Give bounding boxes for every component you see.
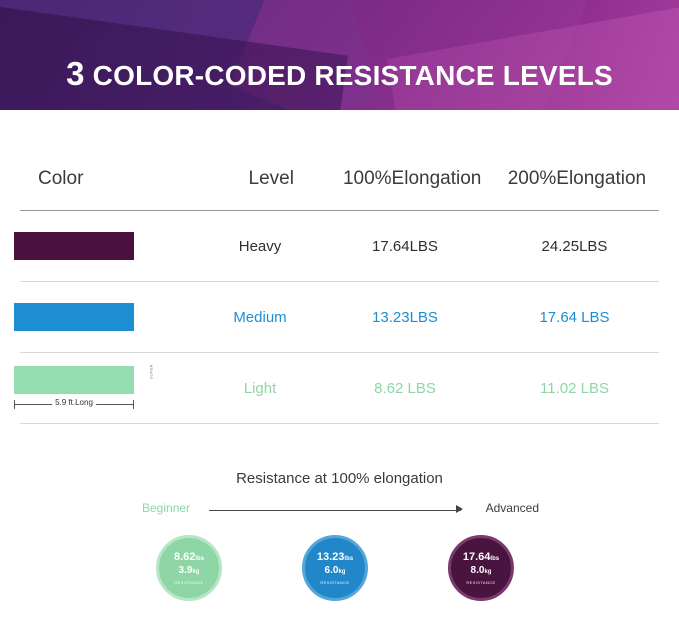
color-swatch-heavy <box>14 232 134 260</box>
badge-light-caption: RESISTANCE <box>174 580 203 585</box>
column-header-color: Color <box>20 168 213 190</box>
arrow-head-icon <box>456 505 463 513</box>
progression-arrow: Beginner Advanced <box>0 501 679 521</box>
badge-heavy-sub: 8.0kg <box>471 565 492 578</box>
value-light-200: 11.02 LBS <box>490 380 659 397</box>
badge-light-sub: 3.9kg <box>179 565 200 578</box>
color-swatch-light: SUPER <box>14 366 134 394</box>
resistance-badges: 8.62lbs 3.9kg RESISTANCE 13.23lbs 6.0kg … <box>0 535 679 615</box>
badge-medium-sub: 6.0kg <box>325 565 346 578</box>
column-header-level: Level <box>213 168 330 190</box>
value-medium-100: 13.23LBS <box>320 309 490 326</box>
label-advanced: Advanced <box>486 501 539 515</box>
table-row: Medium 13.23LBS 17.64 LBS <box>20 282 659 353</box>
label-beginner: Beginner <box>142 501 190 515</box>
page-title-text: COLOR-CODED RESISTANCE LEVELS <box>85 60 613 91</box>
column-header-100-elongation: 100%Elongation <box>330 168 495 190</box>
badge-heavy-caption: RESISTANCE <box>466 580 495 585</box>
arrow-line <box>209 510 461 511</box>
badge-heavy-value: 17.64lbs <box>463 551 499 565</box>
badge-medium-value: 13.23lbs <box>317 551 353 565</box>
value-heavy-200: 24.25LBS <box>490 238 659 255</box>
length-cap-right <box>133 400 134 409</box>
badge-heavy: 17.64lbs 8.0kg RESISTANCE <box>448 535 514 601</box>
badge-light: 8.62lbs 3.9kg RESISTANCE <box>156 535 222 601</box>
value-heavy-100: 17.64LBS <box>320 238 490 255</box>
resistance-table: Color Level 100%Elongation 200%Elongatio… <box>20 110 659 424</box>
swatch-cell-light: SUPER 5.9 ft.Long <box>20 366 200 410</box>
swatch-label-light: SUPER <box>148 364 153 379</box>
length-cap-left <box>14 400 15 409</box>
color-swatch-medium <box>14 303 134 331</box>
length-label: 5.9 ft.Long <box>52 398 96 407</box>
swatch-cell-medium <box>20 303 200 331</box>
table-row: Heavy 17.64LBS 24.25LBS <box>20 211 659 282</box>
level-light: Light <box>200 380 320 397</box>
swatch-cell-heavy <box>20 232 200 260</box>
value-light-100: 8.62 LBS <box>320 380 490 397</box>
page-title-number: 3 <box>66 55 85 92</box>
column-header-200-elongation: 200%Elongation <box>495 168 659 190</box>
badge-light-value: 8.62lbs <box>174 551 204 565</box>
badge-medium-caption: RESISTANCE <box>320 580 349 585</box>
page-title: 3 COLOR-CODED RESISTANCE LEVELS <box>0 55 679 93</box>
level-medium: Medium <box>200 309 320 326</box>
level-heavy: Heavy <box>200 238 320 255</box>
length-indicator: 5.9 ft.Long <box>14 398 134 410</box>
table-header-row: Color Level 100%Elongation 200%Elongatio… <box>20 148 659 211</box>
resistance-scale-section: Resistance at 100% elongation Beginner A… <box>0 470 679 640</box>
badge-medium: 13.23lbs 6.0kg RESISTANCE <box>302 535 368 601</box>
value-medium-200: 17.64 LBS <box>490 309 659 326</box>
table-row: SUPER 5.9 ft.Long Light 8.62 LBS 11.02 L… <box>20 353 659 424</box>
header-banner: 3 COLOR-CODED RESISTANCE LEVELS <box>0 0 679 110</box>
scale-title: Resistance at 100% elongation <box>0 470 679 487</box>
